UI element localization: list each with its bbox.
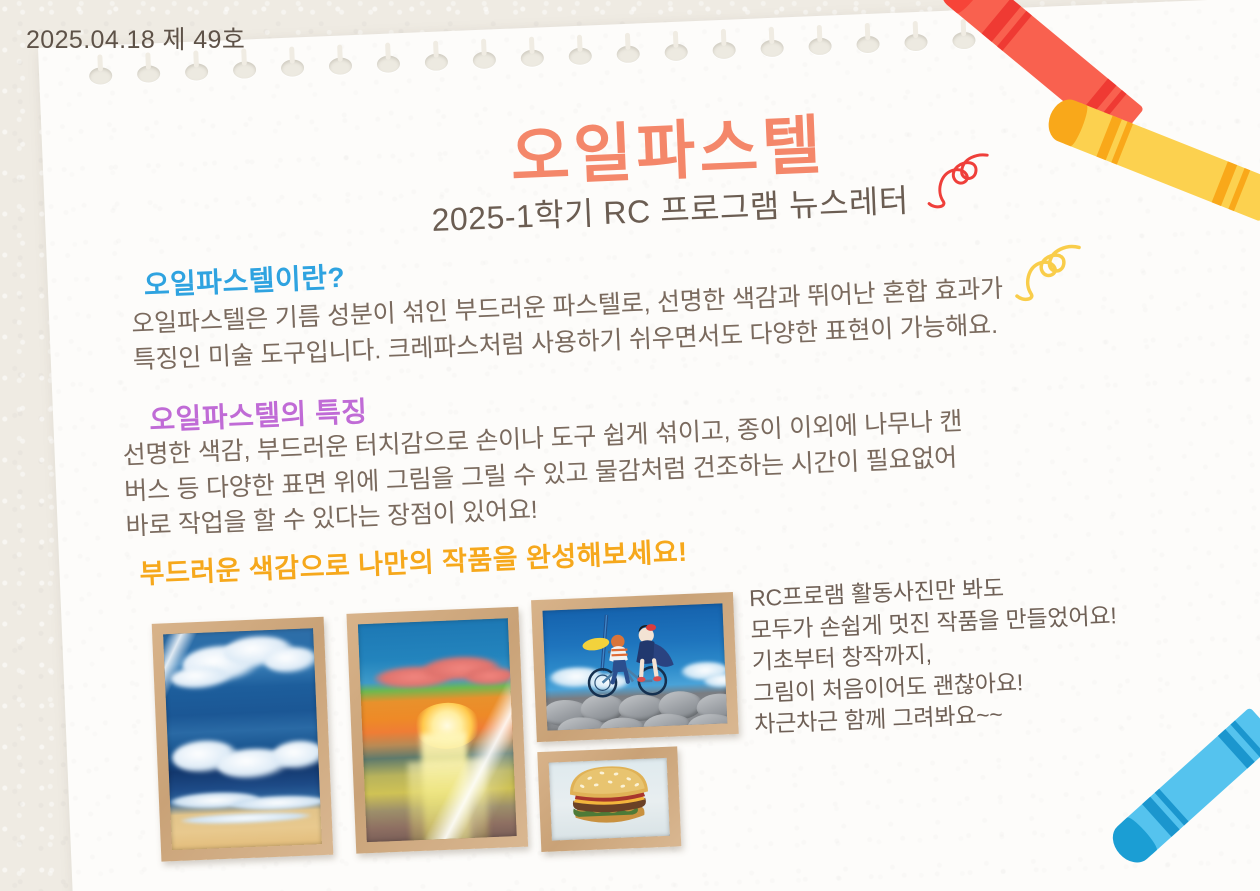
artwork-frame-beach	[152, 617, 334, 862]
artwork-frame-sunset	[346, 607, 528, 854]
binding-hole	[760, 39, 784, 57]
bicycle-riders-illustration	[543, 603, 728, 730]
binding-hole	[664, 43, 688, 61]
sunset-seascape-painting	[358, 618, 517, 842]
section-heading-what-is: 오일파스텔이란?	[143, 256, 346, 304]
binding-hole	[952, 32, 976, 50]
yellow-scribble-icon	[1005, 241, 1088, 308]
issue-date-label: 2025.04.18 제 49호	[26, 20, 245, 56]
binding-hole	[281, 59, 305, 77]
binding-hole	[473, 51, 497, 69]
binding-hole	[377, 55, 401, 73]
hamburger-painting	[549, 758, 670, 841]
binding-hole	[568, 47, 592, 65]
binding-hole	[233, 61, 257, 79]
binding-hole	[856, 35, 880, 53]
binding-hole	[712, 41, 736, 59]
binding-hole	[89, 67, 113, 85]
binding-hole	[137, 65, 161, 83]
notebook-sheet: 오일파스텔 2025-1학기 RC 프로그램 뉴스레터 오일파스텔이란? 오일파…	[38, 0, 1260, 891]
bicycle-sky-painting	[543, 603, 728, 730]
binding-hole	[616, 45, 640, 63]
binding-hole	[520, 49, 544, 67]
artwork-frame-burger	[537, 746, 681, 852]
binding-hole	[185, 63, 209, 81]
hamburger-illustration	[549, 758, 670, 841]
artwork-frame-bicycle	[531, 592, 739, 742]
binding-hole	[329, 57, 353, 75]
beach-seascape-painting	[163, 628, 322, 850]
binding-hole	[904, 34, 928, 52]
red-scribble-icon	[919, 147, 998, 216]
binding-hole	[808, 37, 832, 55]
binding-hole	[425, 53, 449, 71]
gallery-note-text: RC프로램 활동사진만 봐도 모두가 손쉽게 멋진 작품을 만들었어요! 기초부…	[749, 568, 1121, 740]
